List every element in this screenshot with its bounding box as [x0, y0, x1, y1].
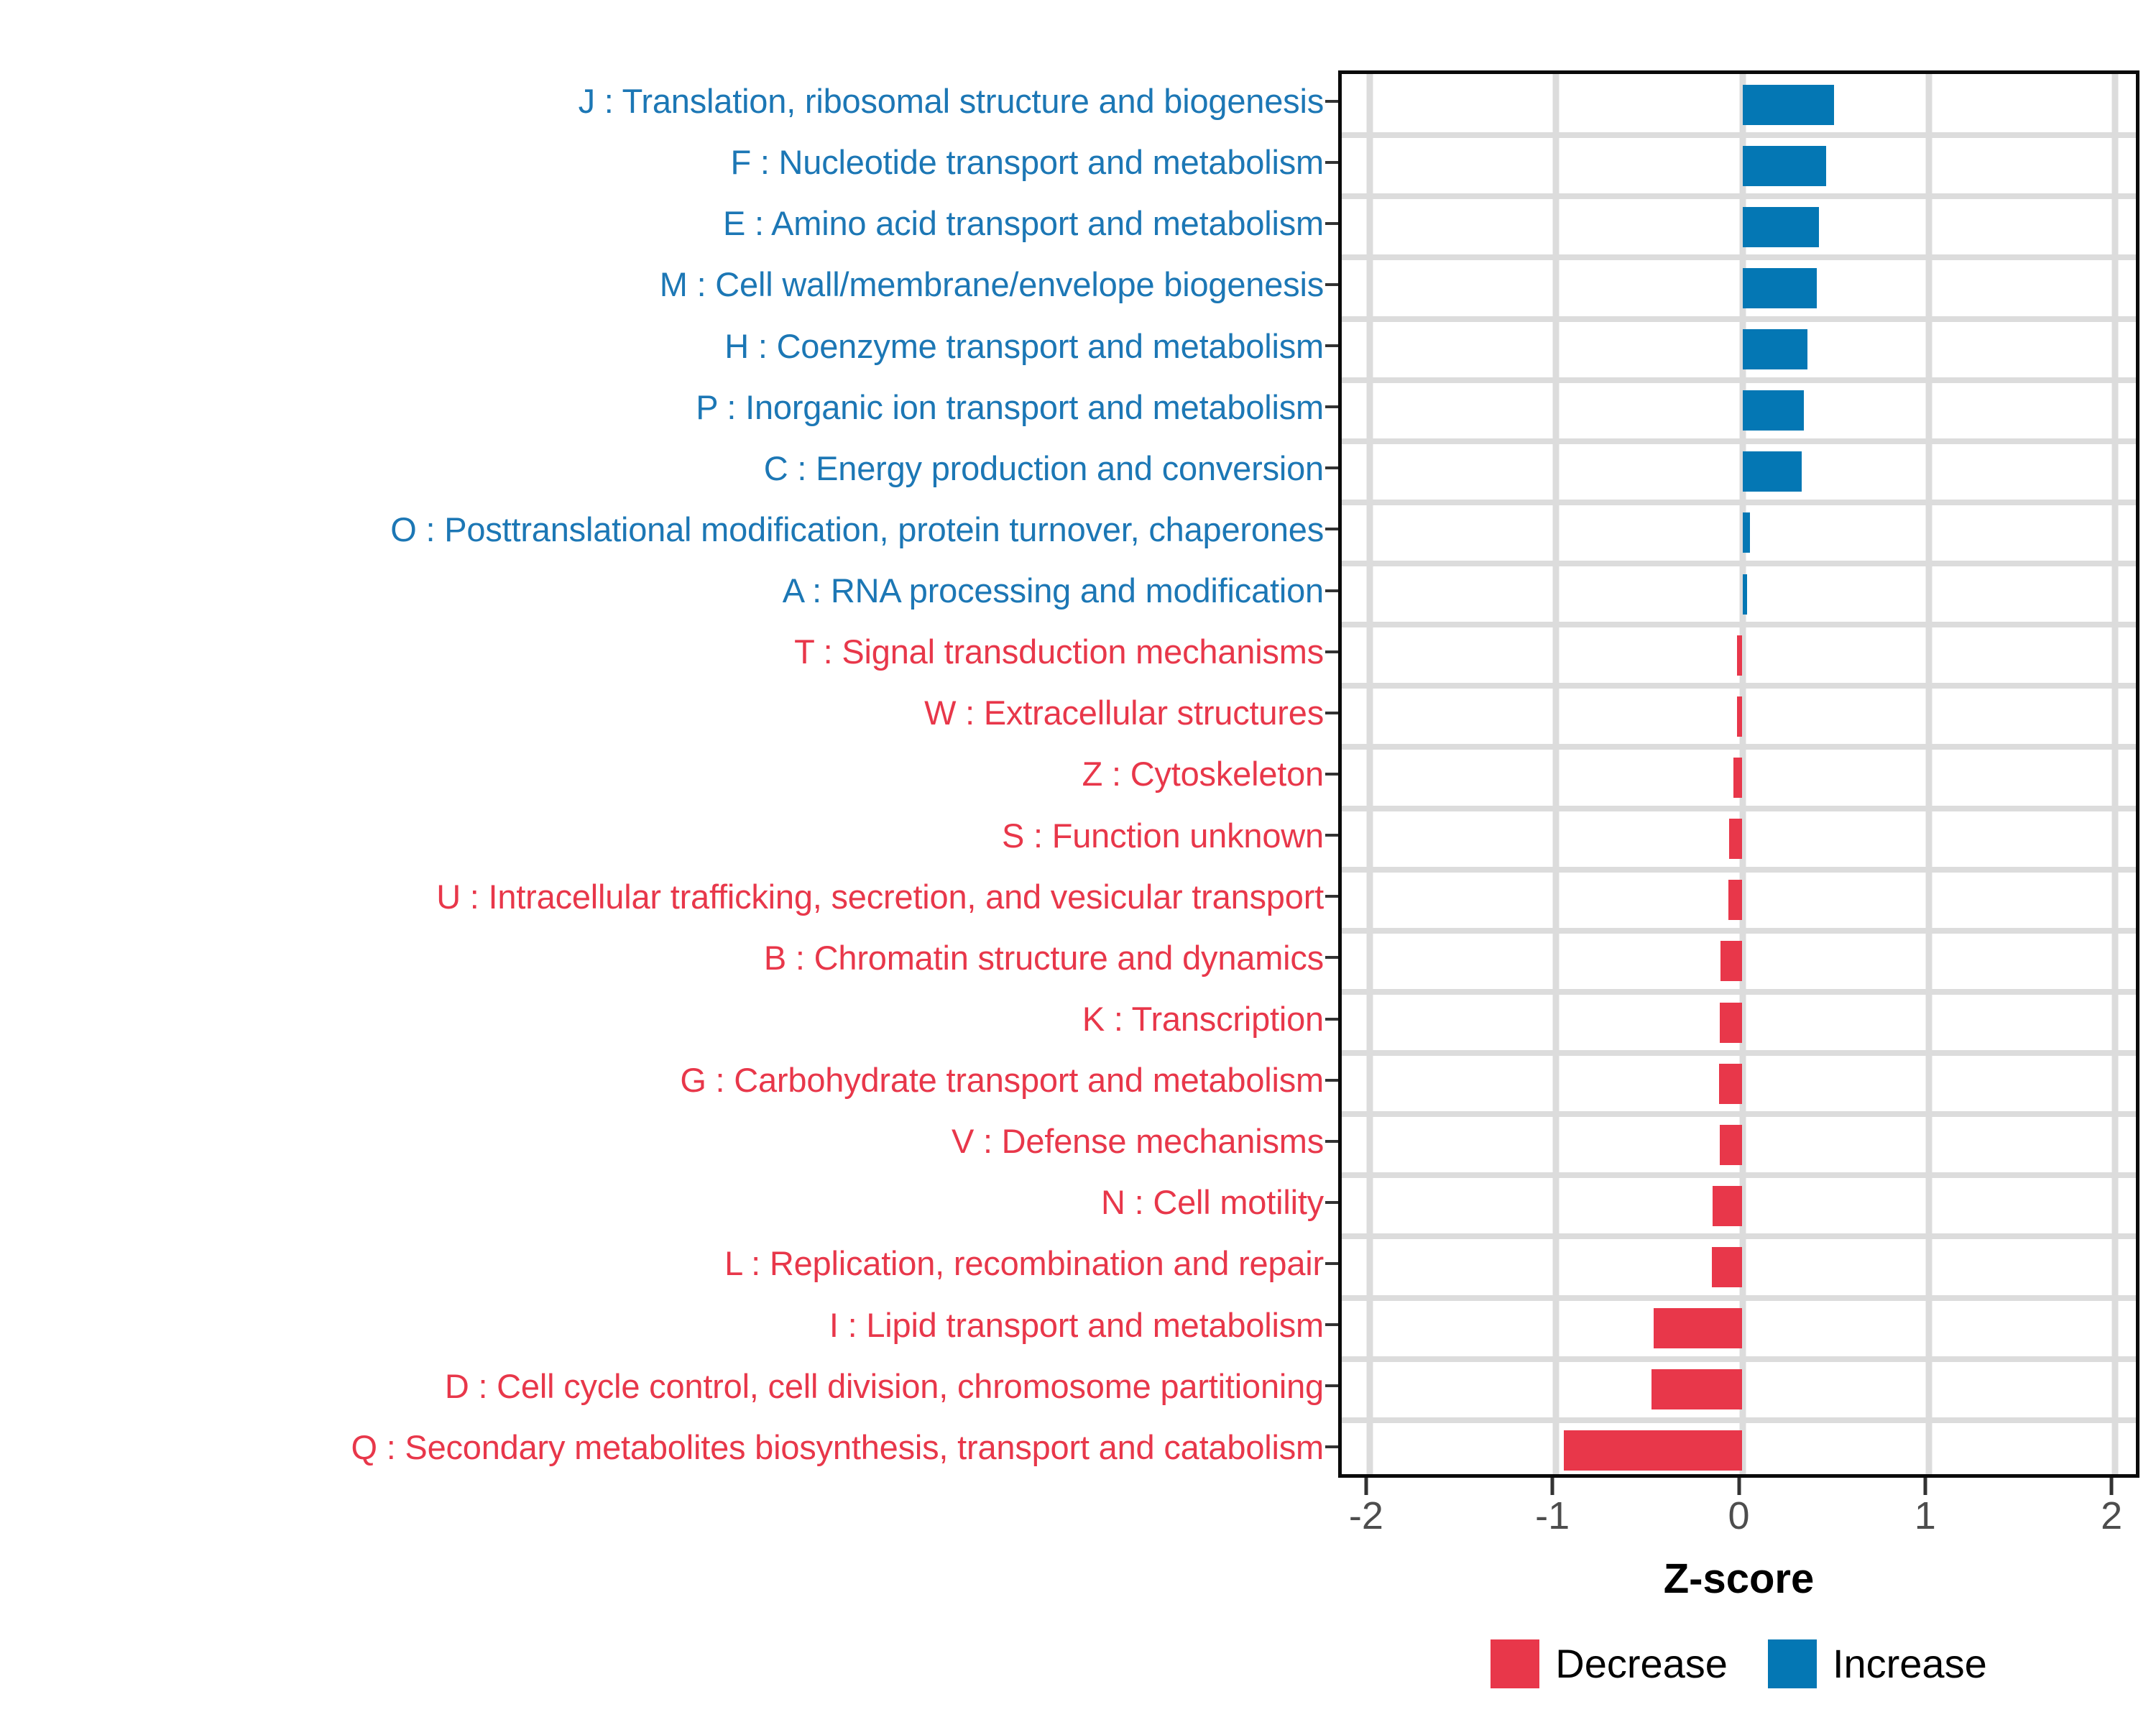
y-tick-mark	[1325, 405, 1338, 408]
category-label-row: K : Transcription	[0, 988, 1334, 1049]
category-label-row: M : Cell wall/membrane/envelope biogenes…	[0, 254, 1334, 315]
category-label: P : Inorganic ion transport and metaboli…	[696, 390, 1324, 424]
x-tick-mark	[1364, 1478, 1368, 1495]
category-label-row: Z : Cytoskeleton	[0, 743, 1334, 804]
x-tick-label: 2	[2101, 1496, 2122, 1535]
y-tick-mark	[1325, 773, 1338, 776]
category-label-row: F : Nucleotide transport and metabolism	[0, 132, 1334, 193]
category-label: A : RNA processing and modification	[783, 574, 1324, 607]
bar	[1737, 635, 1743, 676]
y-tick-mark	[1325, 1384, 1338, 1387]
category-label-row: D : Cell cycle control, cell division, c…	[0, 1356, 1334, 1417]
y-tick-mark	[1325, 834, 1338, 837]
bar	[1720, 1003, 1742, 1043]
category-label-row: U : Intracellular trafficking, secretion…	[0, 866, 1334, 927]
bar	[1743, 146, 1827, 186]
category-label: L : Replication, recombination and repai…	[724, 1246, 1324, 1280]
category-label-row: P : Inorganic ion transport and metaboli…	[0, 377, 1334, 438]
legend-color-swatch	[1491, 1639, 1539, 1688]
category-label: Z : Cytoskeleton	[1082, 757, 1324, 791]
category-label-row: A : RNA processing and modification	[0, 560, 1334, 621]
y-tick-mark	[1325, 1079, 1338, 1082]
y-tick-mark	[1325, 466, 1338, 469]
y-tick-mark	[1325, 528, 1338, 530]
bar	[1564, 1430, 1743, 1471]
category-label: M : Cell wall/membrane/envelope biogenes…	[660, 267, 1324, 301]
bar	[1743, 329, 1808, 369]
bar	[1719, 1064, 1742, 1104]
x-tick-label: 1	[1915, 1496, 1936, 1535]
y-axis-tick-marks	[1322, 70, 1338, 1478]
bar	[1654, 1308, 1743, 1348]
y-tick-mark	[1325, 344, 1338, 347]
category-label: U : Intracellular trafficking, secretion…	[436, 880, 1324, 914]
bar	[1728, 880, 1743, 920]
x-axis-title: Z-score	[1338, 1558, 2139, 1600]
y-tick-mark	[1325, 712, 1338, 714]
plot-panel	[1338, 70, 2139, 1478]
category-label-row: O : Posttranslational modification, prot…	[0, 499, 1334, 560]
y-tick-mark	[1325, 956, 1338, 959]
bar	[1720, 1125, 1742, 1165]
category-label: D : Cell cycle control, cell division, c…	[445, 1369, 1324, 1403]
bar	[1743, 268, 1818, 308]
vertical-gridline	[2112, 74, 2119, 1474]
category-label: C : Energy production and conversion	[764, 451, 1324, 485]
category-label: G : Carbohydrate transport and metabolis…	[680, 1063, 1324, 1097]
category-label: Q : Secondary metabolites biosynthesis, …	[351, 1430, 1324, 1464]
category-label-row: N : Cell motility	[0, 1172, 1334, 1233]
category-label: H : Coenzyme transport and metabolism	[724, 329, 1324, 363]
bar	[1743, 512, 1750, 553]
category-label-row: H : Coenzyme transport and metabolism	[0, 316, 1334, 377]
chart-legend: DecreaseIncrease	[1338, 1632, 2139, 1696]
category-label: T : Signal transduction mechanisms	[794, 635, 1324, 668]
legend-label: Increase	[1833, 1644, 1987, 1684]
vertical-gridline	[1553, 74, 1560, 1474]
y-axis-category-labels: J : Translation, ribosomal structure and…	[0, 70, 1334, 1478]
x-tick-mark	[1551, 1478, 1554, 1495]
y-tick-mark	[1325, 895, 1338, 898]
category-label-row: V : Defense mechanisms	[0, 1110, 1334, 1172]
bar	[1743, 207, 1819, 247]
x-tick-label: -2	[1349, 1496, 1383, 1535]
y-tick-mark	[1325, 1201, 1338, 1204]
legend-color-swatch	[1768, 1639, 1817, 1688]
category-label: N : Cell motility	[1101, 1185, 1324, 1219]
category-label: J : Translation, ribosomal structure and…	[579, 84, 1324, 118]
category-label-row: C : Energy production and conversion	[0, 438, 1334, 499]
bar	[1743, 390, 1805, 431]
category-label-row: S : Function unknown	[0, 805, 1334, 866]
legend-label: Decrease	[1555, 1644, 1728, 1684]
category-label-row: T : Signal transduction mechanisms	[0, 621, 1334, 682]
y-tick-mark	[1325, 100, 1338, 103]
category-label-row: G : Carbohydrate transport and metabolis…	[0, 1049, 1334, 1110]
category-label: B : Chromatin structure and dynamics	[764, 941, 1324, 975]
y-tick-mark	[1325, 161, 1338, 164]
category-label-row: J : Translation, ribosomal structure and…	[0, 70, 1334, 132]
bar	[1651, 1369, 1743, 1409]
bar	[1743, 574, 1747, 615]
y-tick-mark	[1325, 1445, 1338, 1448]
category-label-row: E : Amino acid transport and metabolism	[0, 193, 1334, 254]
category-label: W : Extracellular structures	[924, 696, 1324, 730]
bar	[1733, 758, 1742, 798]
category-label-row: Q : Secondary metabolites biosynthesis, …	[0, 1417, 1334, 1478]
bar	[1713, 1186, 1742, 1226]
x-tick-mark	[2110, 1478, 2114, 1495]
y-tick-mark	[1325, 1323, 1338, 1326]
category-label-row: L : Replication, recombination and repai…	[0, 1233, 1334, 1294]
bar	[1743, 85, 1834, 125]
y-tick-mark	[1325, 1262, 1338, 1265]
plot-area	[1342, 74, 2136, 1474]
y-tick-mark	[1325, 589, 1338, 592]
x-tick-mark	[1923, 1478, 1927, 1495]
bar	[1720, 941, 1742, 981]
legend-item[interactable]: Increase	[1768, 1639, 1987, 1688]
vertical-gridline	[1925, 74, 1932, 1474]
x-tick-label: 0	[1728, 1496, 1749, 1535]
category-label: I : Lipid transport and metabolism	[829, 1308, 1324, 1342]
y-tick-mark	[1325, 1018, 1338, 1021]
category-label: S : Function unknown	[1002, 819, 1324, 852]
category-label-row: B : Chromatin structure and dynamics	[0, 927, 1334, 988]
category-label: V : Defense mechanisms	[952, 1124, 1324, 1158]
legend-item[interactable]: Decrease	[1491, 1639, 1728, 1688]
x-tick-label: -1	[1535, 1496, 1570, 1535]
y-tick-mark	[1325, 283, 1338, 286]
x-tick-mark	[1737, 1478, 1741, 1495]
y-tick-mark	[1325, 650, 1338, 653]
y-tick-mark	[1325, 1140, 1338, 1143]
bar	[1729, 819, 1742, 859]
category-label: K : Transcription	[1082, 1002, 1324, 1036]
category-label-row: W : Extracellular structures	[0, 682, 1334, 743]
vertical-gridline	[1366, 74, 1373, 1474]
bar	[1737, 696, 1743, 737]
category-label-row: I : Lipid transport and metabolism	[0, 1294, 1334, 1356]
category-label: O : Posttranslational modification, prot…	[390, 512, 1324, 546]
bar	[1712, 1247, 1742, 1287]
y-tick-mark	[1325, 222, 1338, 225]
cog-category-zscore-chart: J : Translation, ribosomal structure and…	[0, 0, 2156, 1725]
category-label: F : Nucleotide transport and metabolism	[730, 145, 1324, 179]
bar	[1743, 451, 1802, 492]
category-label: E : Amino acid transport and metabolism	[723, 206, 1324, 240]
